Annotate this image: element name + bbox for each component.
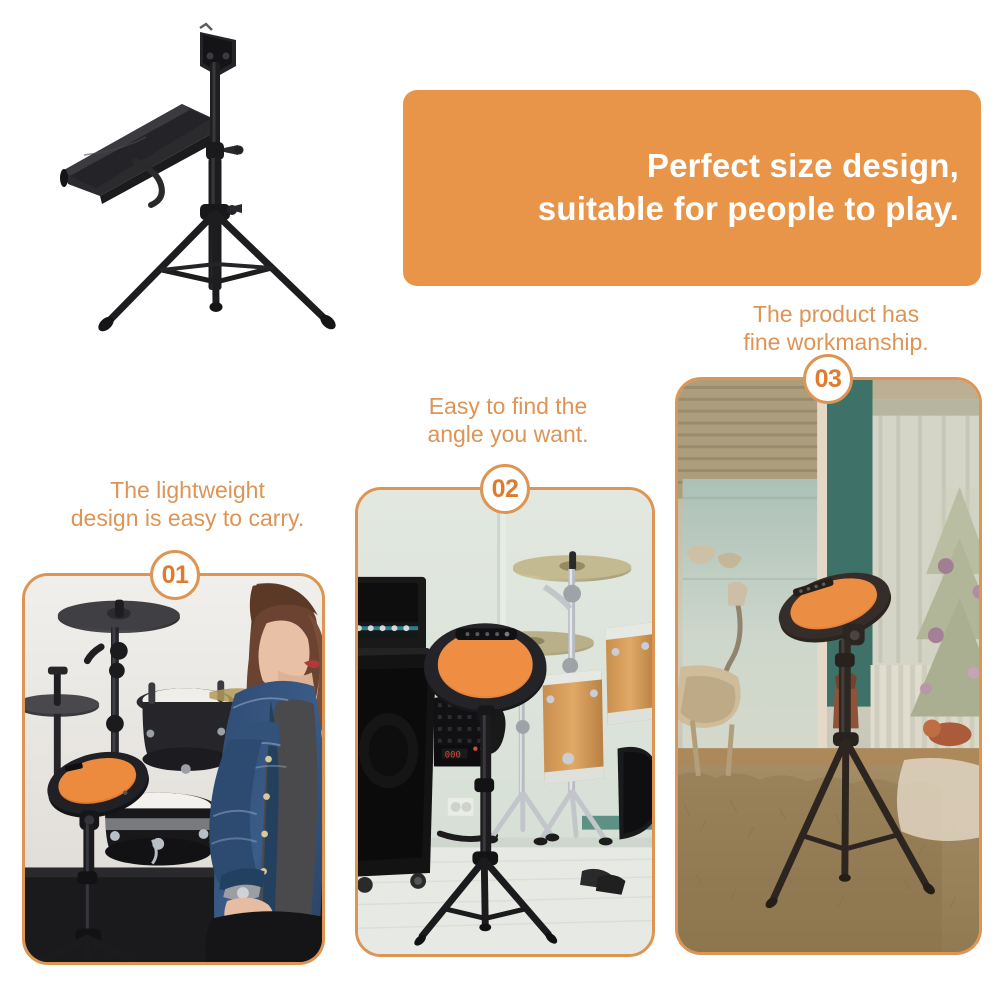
headline-banner: Perfect size design, suitable for people… bbox=[403, 90, 981, 286]
feature-caption-03: The product has fine workmanship. bbox=[690, 300, 982, 356]
infographic-stage: Perfect size design, suitable for people… bbox=[0, 0, 1002, 1002]
hero-product-image bbox=[40, 18, 370, 380]
feature-number-badge-01: 01 bbox=[150, 550, 200, 600]
banner-headline-line1: Perfect size design, bbox=[647, 145, 959, 188]
svg-text:000: 000 bbox=[445, 751, 461, 761]
feature-photo-panel-02: 000 bbox=[355, 487, 655, 957]
feature-caption-02: Easy to find the angle you want. bbox=[392, 392, 624, 448]
feature-photo-panel-01 bbox=[22, 573, 325, 965]
feature-number-badge-03: 03 bbox=[803, 354, 853, 404]
rehearsal-room-practice-pad-photo: 000 bbox=[358, 490, 652, 954]
feature-caption-01: The lightweight design is easy to carry. bbox=[40, 476, 335, 532]
drummer-with-practice-pad-photo bbox=[25, 576, 322, 962]
feature-number-badge-02: 02 bbox=[480, 464, 530, 514]
feature-photo-panel-03 bbox=[675, 377, 982, 955]
banner-headline-line2: suitable for people to play. bbox=[538, 188, 959, 231]
living-room-practice-pad-photo bbox=[678, 380, 979, 952]
